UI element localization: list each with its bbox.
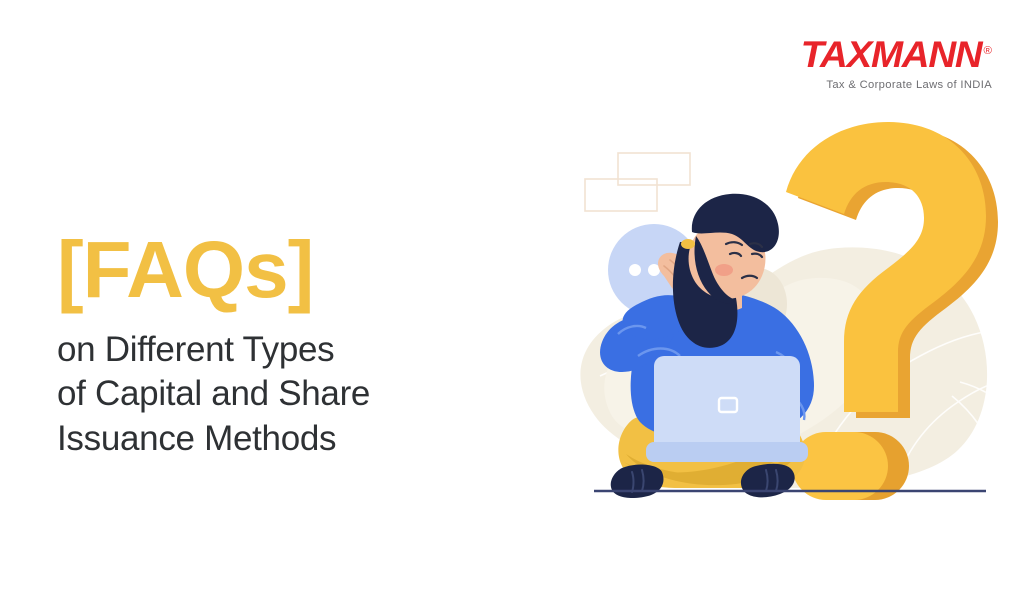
subtitle-line-1: on Different Types — [57, 328, 497, 372]
logo-tagline: Tax & Corporate Laws of INDIA — [808, 80, 992, 91]
subtitle-line-3: Issuance Methods — [57, 417, 497, 461]
laptop-base — [646, 442, 808, 462]
banner-canvas: TAXMANN® Tax & Corporate Laws of INDIA [… — [0, 0, 1024, 600]
character-hair-tie — [681, 239, 695, 249]
illustration-svg — [560, 120, 1008, 510]
page-subtitle: on Different Types of Capital and Share … — [57, 328, 497, 461]
logo-wordmark-text: TAXMANN — [801, 34, 982, 75]
page-title: [FAQs] — [57, 232, 497, 308]
taxmann-logo[interactable]: TAXMANN® Tax & Corporate Laws of INDIA — [808, 36, 992, 91]
decorative-rect-top — [618, 153, 690, 185]
laptop-lid — [654, 356, 800, 456]
hero-illustration — [560, 120, 1008, 510]
headline-block: [FAQs] on Different Types of Capital and… — [57, 232, 497, 461]
registered-trademark-icon: ® — [984, 45, 992, 57]
decorative-rect-bottom — [585, 179, 657, 211]
character-shoe-left — [611, 465, 664, 498]
laptop-group — [646, 356, 808, 462]
character-blush — [715, 264, 733, 276]
decorative-rectangles — [585, 153, 690, 211]
logo-wordmark: TAXMANN® — [801, 36, 992, 73]
subtitle-line-2: of Capital and Share — [57, 372, 497, 416]
